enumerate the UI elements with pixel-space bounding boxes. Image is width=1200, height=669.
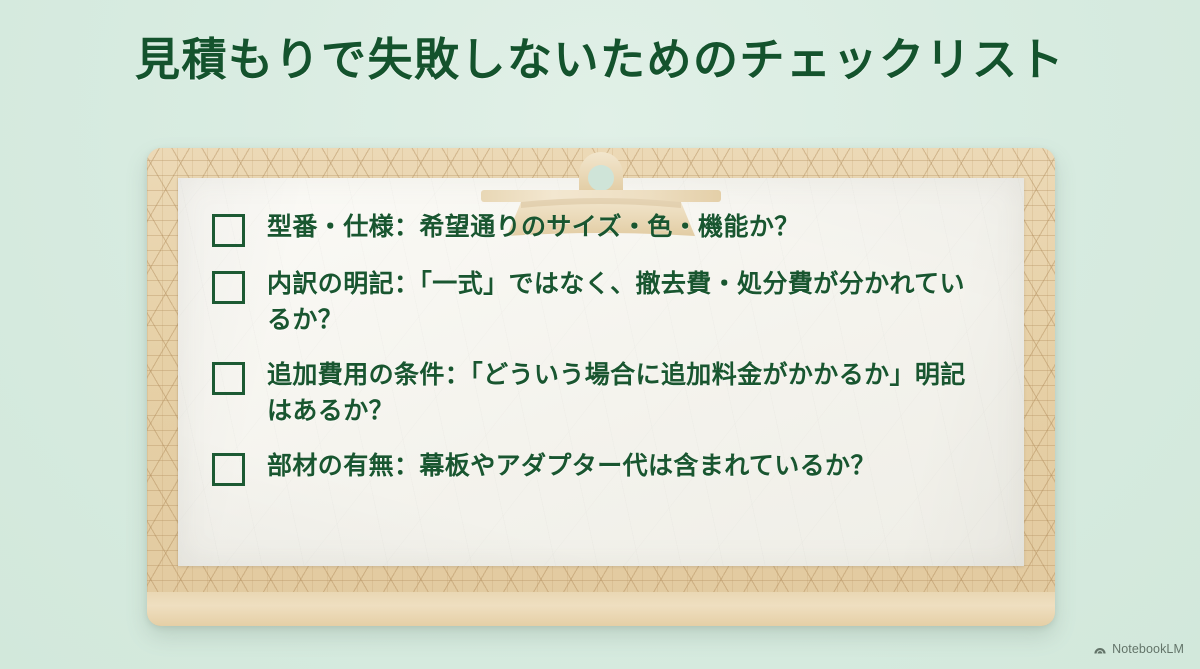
checklist: 型番・仕様：希望通りのサイズ・色・機能か？ 内訳の明記：「一式」ではなく、撤去費… <box>212 210 1015 486</box>
notebooklm-watermark: NotebookLM <box>1093 642 1184 656</box>
checkbox-icon[interactable] <box>212 362 245 395</box>
wooden-clipboard: 型番・仕様：希望通りのサイズ・色・機能か？ 内訳の明記：「一式」ではなく、撤去費… <box>147 148 1055 626</box>
slide-canvas: 見積もりで失敗しないためのチェックリスト <box>0 0 1200 669</box>
checklist-item[interactable]: 部材の有無：幕板やアダプター代は含まれているか？ <box>212 449 1015 486</box>
checklist-item[interactable]: 追加費用の条件：「どういう場合に追加料金がかかるか」明記はあるか？ <box>212 358 1015 429</box>
checklist-item-label: 部材の有無：幕板やアダプター代は含まれているか？ <box>267 449 876 485</box>
checklist-item-label: 型番・仕様：希望通りのサイズ・色・機能か？ <box>267 210 800 246</box>
checkbox-icon[interactable] <box>212 271 245 304</box>
checklist-item[interactable]: 型番・仕様：希望通りのサイズ・色・機能か？ <box>212 210 1015 247</box>
checkbox-icon[interactable] <box>212 453 245 486</box>
notebooklm-label: NotebookLM <box>1112 642 1184 656</box>
checkbox-icon[interactable] <box>212 214 245 247</box>
checklist-item-label: 内訳の明記：「一式」ではなく、撤去費・処分費が分かれているか？ <box>267 267 967 338</box>
checklist-item-label: 追加費用の条件：「どういう場合に追加料金がかかるか」明記はあるか？ <box>267 358 967 429</box>
checklist-item[interactable]: 内訳の明記：「一式」ではなく、撤去費・処分費が分かれているか？ <box>212 267 1015 338</box>
page-title: 見積もりで失敗しないためのチェックリスト <box>0 34 1200 86</box>
notebooklm-logo-icon <box>1093 642 1107 656</box>
